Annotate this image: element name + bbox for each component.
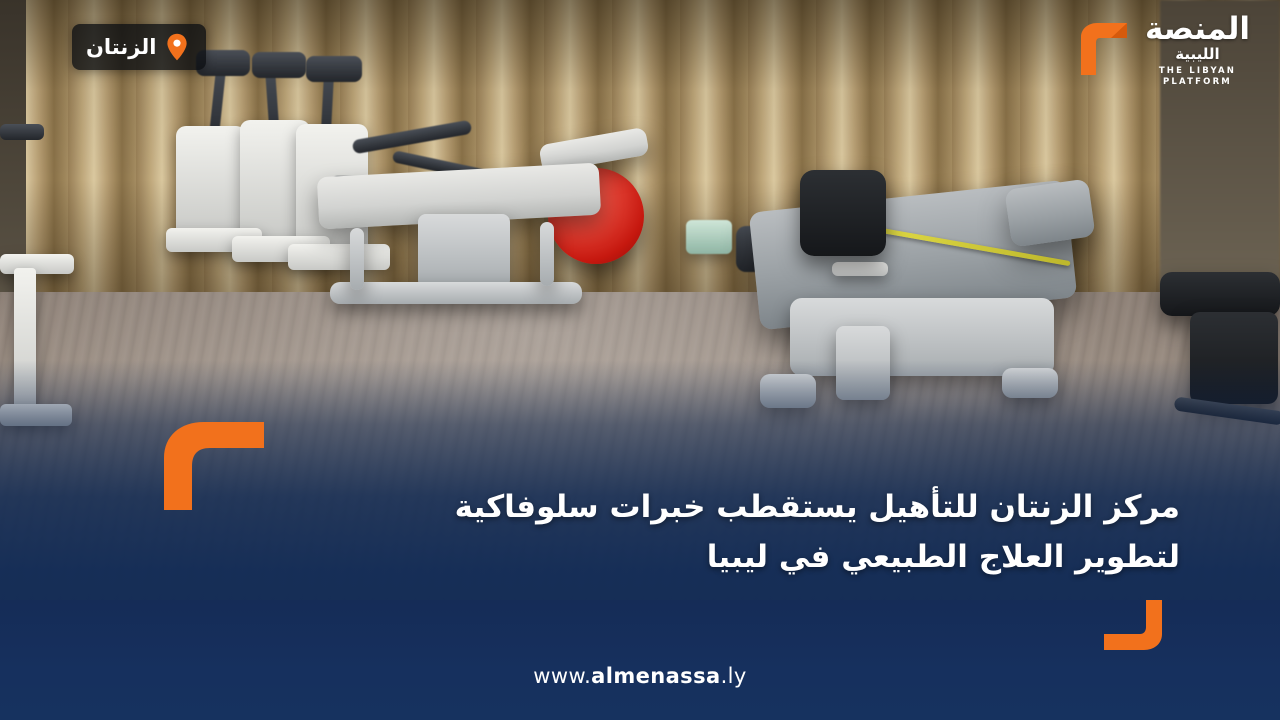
footer-url-main: almenassa — [591, 664, 720, 688]
headline-line-2: لتطوير العلاج الطبيعي في ليبيا — [200, 532, 1180, 582]
treatment-table-white-base — [418, 214, 510, 288]
elliptical-console-2 — [252, 52, 306, 78]
brand-name-english-line2: PLATFORM — [1163, 78, 1232, 87]
headline: مركز الزنتان للتأهيل يستقطب خبرات سلوفاك… — [200, 482, 1180, 582]
elliptical-body-1 — [176, 126, 246, 238]
parallel-bars-left — [0, 254, 74, 274]
footer-url-suffix: .ly — [721, 664, 747, 688]
brand-name-english-line1: THE LIBYAN — [1159, 67, 1236, 76]
elliptical-console-3 — [306, 56, 362, 82]
bottom-solid-band — [0, 600, 1280, 720]
location-badge-label: الزنتان — [86, 37, 156, 58]
treatment-table-grey-headrest — [1004, 178, 1095, 247]
office-chair-right-seat — [1160, 272, 1280, 316]
brand-bracket-icon — [1075, 19, 1137, 81]
treatment-table-white-leg-right — [540, 222, 554, 286]
treatment-table-white-leg-left — [350, 228, 364, 290]
decorative-bracket-bottom-right-icon — [1104, 600, 1166, 652]
map-pin-icon — [166, 33, 188, 61]
brand-logo-text: المنصة الليبية THE LIBYAN PLATFORM — [1145, 14, 1250, 86]
headline-line-1: مركز الزنتان للتأهيل يستقطب خبرات سلوفاك… — [200, 482, 1180, 532]
footer-website-url[interactable]: www.almenassa.ly — [0, 664, 1280, 688]
wall-rail-left — [0, 124, 44, 140]
brand-subtitle-arabic: الليبية — [1175, 47, 1219, 62]
footer-url-prefix: www. — [533, 664, 591, 688]
elliptical-foot-3 — [288, 244, 390, 270]
office-chair-back — [800, 170, 886, 256]
floor-equipment-light — [686, 220, 732, 254]
table-remote — [832, 262, 888, 276]
brand-name-arabic: المنصة — [1145, 14, 1250, 45]
location-badge[interactable]: الزنتان — [72, 24, 206, 70]
brand-logo[interactable]: المنصة الليبية THE LIBYAN PLATFORM — [1075, 14, 1250, 86]
social-media-news-card: الزنتان المنصة الليبية THE LIBYAN PLATFO… — [0, 0, 1280, 720]
